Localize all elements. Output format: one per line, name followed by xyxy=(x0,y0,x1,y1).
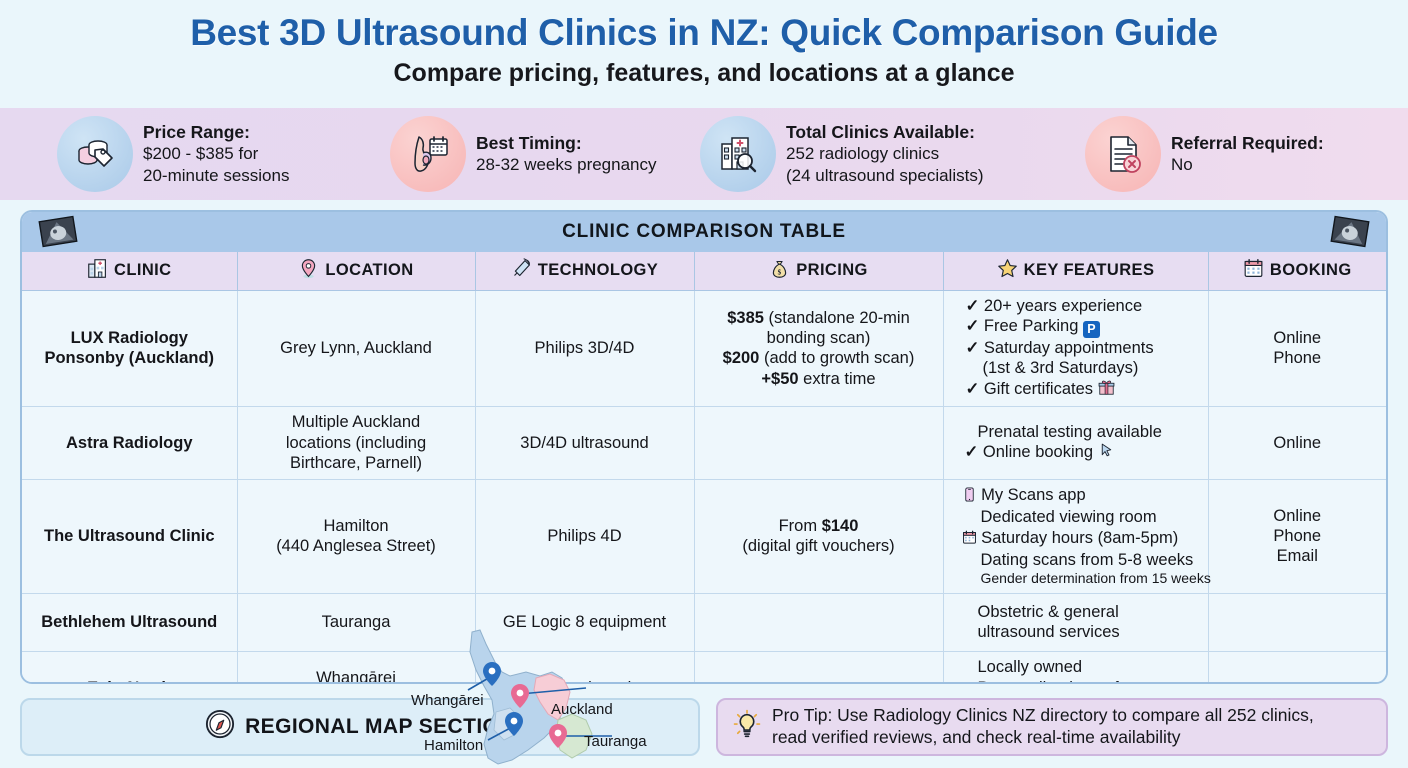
stat-price-range: Price Range: $200 - $385 for 20-minute s… xyxy=(0,116,370,192)
cell-booking: Online xyxy=(1208,407,1386,479)
cell-pricing: $385 (standalone 20-minbonding scan)$200… xyxy=(694,290,943,407)
stat-label: Total Clinics Available: xyxy=(786,121,983,143)
stat-value-1: No xyxy=(1171,155,1193,174)
pro-tip-text: Pro Tip: Use Radiology Clinics NZ direct… xyxy=(772,705,1314,749)
column-header-label: PRICING xyxy=(796,261,868,280)
money-bag-icon: $ xyxy=(769,258,790,284)
gift-icon xyxy=(1098,379,1115,401)
clinic-comparison-panel: CLINIC COMPARISON TABLE xyxy=(20,210,1388,684)
cell-pricing xyxy=(694,407,943,479)
stat-label: Price Range: xyxy=(143,121,289,143)
calendar-icon xyxy=(1243,258,1264,284)
cell-technology: GE Logic 8 equipment xyxy=(475,593,694,651)
table-row: The Ultrasound Clinic Hamilton(440 Angle… xyxy=(22,479,1386,593)
map-label-auckland: Auckland xyxy=(551,701,613,718)
mobile-phone-icon xyxy=(962,487,977,507)
cell-booking xyxy=(1208,651,1386,684)
map-pin-icon xyxy=(298,258,319,284)
cell-key-features: Prenatal testing available ✓ Online book… xyxy=(943,407,1208,479)
cell-location: Multiple Aucklandlocations (includingBir… xyxy=(237,407,475,479)
cell-clinic: EchoNorth xyxy=(22,651,237,684)
hero-header: Best 3D Ultrasound Clinics in NZ: Quick … xyxy=(0,0,1408,108)
clinic-table: CLINIC LOCATION TECHNOLOGY xyxy=(22,252,1386,684)
svg-text:$: $ xyxy=(778,268,782,276)
table-row: EchoNorth Whangārei(21/50 Kioreroa Road)… xyxy=(22,651,1386,684)
table-row: Astra Radiology Multiple Aucklandlocatio… xyxy=(22,407,1386,479)
cell-key-features: Locally owned Personalized care for Nort… xyxy=(943,651,1208,684)
compass-icon xyxy=(205,709,235,745)
cell-location: Hamilton(440 Anglesea Street) xyxy=(237,479,475,593)
stat-value-2: 20-minute sessions xyxy=(143,166,289,185)
column-header-label: CLINIC xyxy=(114,261,171,280)
ultrasound-photo-icon xyxy=(38,215,78,247)
page-subtitle: Compare pricing, features, and locations… xyxy=(0,59,1408,88)
calendar-icon xyxy=(962,530,977,550)
cell-clinic: LUX RadiologyPonsonby (Auckland) xyxy=(22,290,237,407)
cell-booking: OnlinePhoneEmail xyxy=(1208,479,1386,593)
table-banner: CLINIC COMPARISON TABLE xyxy=(22,212,1386,252)
coins-price-tag-icon xyxy=(57,116,133,192)
table-header-row: CLINIC LOCATION TECHNOLOGY xyxy=(22,252,1386,290)
cursor-click-icon xyxy=(1098,442,1115,464)
column-header-label: BOOKING xyxy=(1270,261,1352,280)
document-cross-icon xyxy=(1085,116,1161,192)
cell-technology: Philips 4D xyxy=(475,479,694,593)
column-header-technology: TECHNOLOGY xyxy=(475,252,694,290)
hospital-icon xyxy=(87,258,108,284)
infographic-page: Best 3D Ultrasound Clinics in NZ: Quick … xyxy=(0,0,1408,768)
cell-location: Grey Lynn, Auckland xyxy=(237,290,475,407)
stat-value-2: (24 ultrasound specialists) xyxy=(786,166,983,185)
stat-text: Price Range: $200 - $385 for 20-minute s… xyxy=(143,121,289,187)
column-header-booking: BOOKING xyxy=(1208,252,1386,290)
stat-value-1: 28-32 weeks pregnancy xyxy=(476,155,657,174)
ultrasound-photo-icon xyxy=(1330,215,1370,247)
pro-tip-line2: read verified reviews, and check real-ti… xyxy=(772,727,1181,747)
stat-text: Total Clinics Available: 252 radiology c… xyxy=(786,121,983,187)
cell-pricing xyxy=(694,593,943,651)
stat-best-timing: Best Timing: 28-32 weeks pregnancy xyxy=(370,116,700,192)
stats-bar: Price Range: $200 - $385 for 20-minute s… xyxy=(0,108,1408,200)
cell-key-features: ✓ 20+ years experience ✓ Free Parking P … xyxy=(943,290,1208,407)
stat-value-1: 252 radiology clinics xyxy=(786,144,939,163)
column-header-label: KEY FEATURES xyxy=(1024,261,1155,280)
page-title: Best 3D Ultrasound Clinics in NZ: Quick … xyxy=(0,10,1408,56)
cell-clinic: Astra Radiology xyxy=(22,407,237,479)
column-header-label: TECHNOLOGY xyxy=(538,261,658,280)
table-row: LUX RadiologyPonsonby (Auckland) Grey Ly… xyxy=(22,290,1386,407)
column-header-label: LOCATION xyxy=(325,261,413,280)
stat-value-1: $200 - $385 for xyxy=(143,144,258,163)
stat-label: Best Timing: xyxy=(476,132,657,154)
cell-technology: Philips 3D/4D xyxy=(475,290,694,407)
parking-badge-icon: P xyxy=(1083,321,1100,338)
cell-technology: 3D/4D ultrasound xyxy=(475,407,694,479)
cell-key-features: Obstetric & general ultrasound services xyxy=(943,593,1208,651)
cell-location: Tauranga xyxy=(237,593,475,651)
column-header-key-features: KEY FEATURES xyxy=(943,252,1208,290)
lightbulb-icon xyxy=(732,709,762,745)
cell-pricing xyxy=(694,651,943,684)
star-icon xyxy=(997,258,1018,284)
map-label-tauranga: Tauranga xyxy=(584,733,647,750)
pro-tip-line1: Pro Tip: Use Radiology Clinics NZ direct… xyxy=(772,705,1314,725)
pregnant-calendar-icon xyxy=(390,116,466,192)
cell-booking: OnlinePhone xyxy=(1208,290,1386,407)
pro-tip-box: Pro Tip: Use Radiology Clinics NZ direct… xyxy=(716,698,1388,756)
table-row: Bethlehem Ultrasound Tauranga GE Logic 8… xyxy=(22,593,1386,651)
ultrasound-probe-icon xyxy=(511,258,532,284)
stat-text: Referral Required: No xyxy=(1171,132,1324,176)
map-label-hamilton: Hamilton xyxy=(424,737,483,754)
cell-clinic: The Ultrasound Clinic xyxy=(22,479,237,593)
column-header-clinic: CLINIC xyxy=(22,252,237,290)
bottom-strip: REGIONAL MAP SECTION Pro Tip: Use Radiol… xyxy=(20,698,1388,756)
stat-total-clinics: Total Clinics Available: 252 radiology c… xyxy=(700,116,1075,192)
cell-key-features: My Scans app Dedicated viewing room Satu… xyxy=(943,479,1208,593)
map-label-whangarei: Whangārei xyxy=(411,692,484,709)
cell-technology: Ultrasound services xyxy=(475,651,694,684)
stat-text: Best Timing: 28-32 weeks pregnancy xyxy=(476,132,657,176)
table-banner-title: CLINIC COMPARISON TABLE xyxy=(562,221,846,243)
cell-clinic: Bethlehem Ultrasound xyxy=(22,593,237,651)
stat-referral-required: Referral Required: No xyxy=(1075,116,1405,192)
column-header-pricing: $ PRICING xyxy=(694,252,943,290)
hospital-search-icon xyxy=(700,116,776,192)
cell-pricing: From $140(digital gift vouchers) xyxy=(694,479,943,593)
column-header-location: LOCATION xyxy=(237,252,475,290)
cell-booking xyxy=(1208,593,1386,651)
stat-label: Referral Required: xyxy=(1171,132,1324,154)
cell-location: Whangārei(21/50 Kioreroa Road) xyxy=(237,651,475,684)
map-section-title: REGIONAL MAP SECTION xyxy=(245,715,515,739)
